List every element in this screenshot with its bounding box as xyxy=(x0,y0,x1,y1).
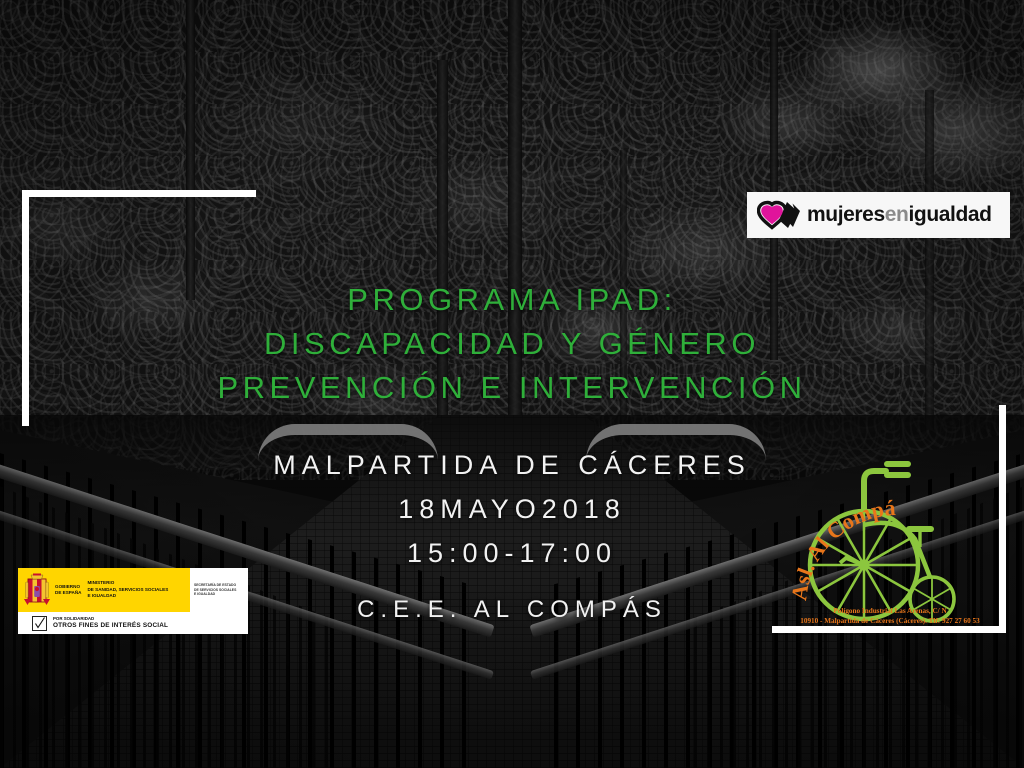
event-poster: PROGRAMA IPAD: DISCAPACIDAD Y GÉNERO PRE… xyxy=(0,0,1024,768)
gob-yellow-band: GOBIERNO DE ESPAÑA MINISTERIO DE SANIDAD… xyxy=(18,568,190,612)
check-mark-icon xyxy=(34,617,46,630)
corner-bracket-top-left-horizontal xyxy=(22,190,256,197)
gob-white-band: SECRETARÍA DE ESTADO DE SERVICIOS SOCIAL… xyxy=(190,568,248,612)
mujeres-en-igualdad-logo: mujeresenigualdad xyxy=(747,192,1010,238)
solidaridad-row: POR SOLIDARIDAD OTROS FINES DE INTERÉS S… xyxy=(18,612,248,634)
secretaria-line-3: E IGUALDAD xyxy=(194,592,236,597)
secretaria-text: SECRETARÍA DE ESTADO DE SERVICIOS SOCIAL… xyxy=(194,583,236,597)
al-compas-penny-farthing-logo: Asl. Al Compás xyxy=(790,455,970,630)
gobierno-line-2: DE ESPAÑA xyxy=(55,590,81,596)
title-line-2: DISCAPACIDAD Y GÉNERO xyxy=(0,322,1024,366)
gob-logo-top-band: GOBIERNO DE ESPAÑA MINISTERIO DE SANIDAD… xyxy=(18,568,248,612)
wordmark-igualdad: igualdad xyxy=(908,203,991,226)
al-compas-address: Polígono Industrial Las Arenas, C/ N 109… xyxy=(770,607,1010,626)
title-line-1: PROGRAMA IPAD: xyxy=(0,278,1024,322)
al-compas-curved-text: Asl. Al Compás xyxy=(790,455,896,602)
address-line-2: 10910 - Malpartida de Cáceres (Cáceres).… xyxy=(770,617,1010,627)
poster-title: PROGRAMA IPAD: DISCAPACIDAD Y GÉNERO PRE… xyxy=(0,278,1024,410)
solidaridad-text: POR SOLIDARIDAD OTROS FINES DE INTERÉS S… xyxy=(53,616,168,630)
wordmark-en: en xyxy=(885,203,909,226)
mujeres-en-igualdad-wordmark: mujeresenigualdad xyxy=(807,203,992,227)
double-heart-icon xyxy=(757,200,801,230)
ministerio-text: MINISTERIO DE SANIDAD, SERVICIOS SOCIALE… xyxy=(87,580,168,599)
checkbox-icon xyxy=(32,616,47,631)
gobierno-de-espana-logo: GOBIERNO DE ESPAÑA MINISTERIO DE SANIDAD… xyxy=(18,568,248,634)
spain-coat-of-arms-icon xyxy=(22,573,52,607)
title-line-3: PREVENCIÓN E INTERVENCIÓN xyxy=(0,366,1024,410)
ministerio-line-3: E IGUALDAD xyxy=(87,593,168,599)
address-line-1: Polígono Industrial Las Arenas, C/ N xyxy=(770,607,1010,617)
wordmark-mujeres: mujeres xyxy=(807,203,885,226)
gobierno-de-espana-text: GOBIERNO DE ESPAÑA xyxy=(55,584,81,597)
solidaridad-line-2: OTROS FINES DE INTERÉS SOCIAL xyxy=(53,622,168,630)
